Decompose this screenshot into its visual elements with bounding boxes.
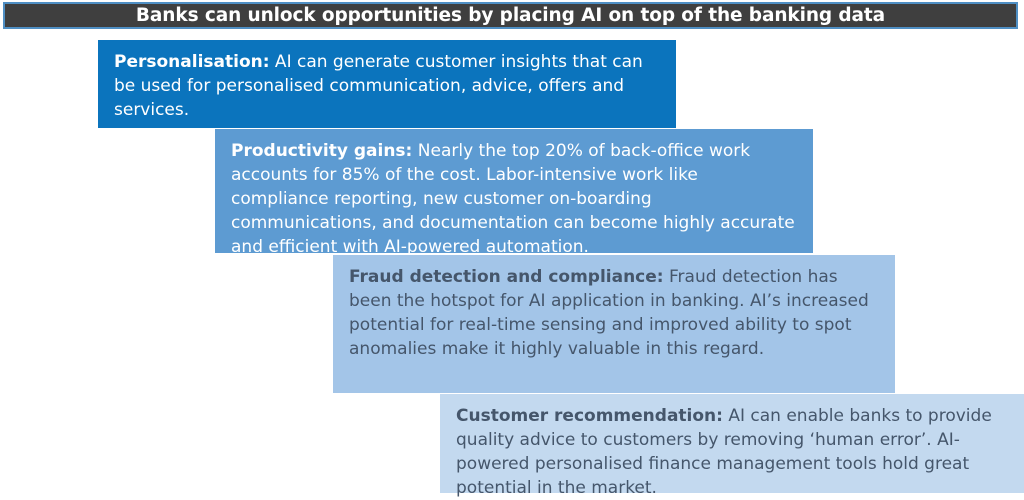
info-card-productivity-gains-lead: Productivity gains:	[231, 141, 412, 161]
info-card-productivity-gains: Productivity gains: Nearly the top 20% o…	[215, 129, 813, 253]
info-card-personalisation-lead: Personalisation:	[114, 52, 270, 72]
info-card-customer-recommendation-lead: Customer recommendation:	[456, 406, 723, 426]
header-banner: Banks can unlock opportunities by placin…	[3, 2, 1018, 29]
page-title: Banks can unlock opportunities by placin…	[136, 5, 885, 26]
info-card-customer-recommendation: Customer recommendation: AI can enable b…	[440, 394, 1024, 493]
info-card-personalisation: Personalisation: AI can generate custome…	[98, 40, 676, 128]
info-card-fraud-detection-and-compliance: Fraud detection and compliance: Fraud de…	[333, 255, 895, 393]
info-card-fraud-detection-and-compliance-lead: Fraud detection and compliance:	[349, 267, 664, 287]
